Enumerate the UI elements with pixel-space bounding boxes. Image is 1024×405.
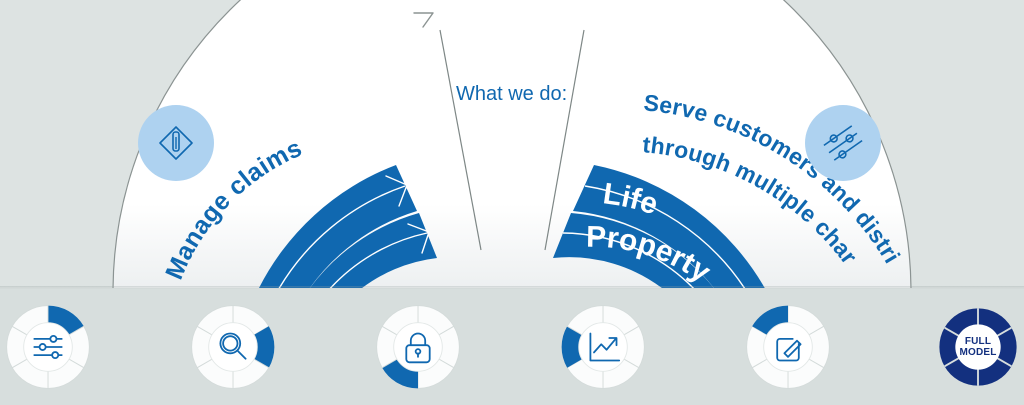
toolbar-item-sliders[interactable] [3,302,93,392]
infographic-canvas: Manage claims Serve customers and distri… [0,0,1024,405]
toolbar-item-edit[interactable] [743,302,833,392]
badge-serve-customers[interactable] [805,105,881,181]
donut-search [188,302,278,392]
maturity-toolbar: FULL MODEL [0,288,1024,405]
wheel-center-caption: What we do: [456,83,567,106]
donut-analytics [558,302,648,392]
pencil-in-diamond-icon [152,119,200,167]
donut-secure [373,302,463,392]
toolbar-item-analytics[interactable] [558,302,648,392]
toolbar-item-secure[interactable] [373,302,463,392]
badge-manage-claims[interactable] [138,105,214,181]
sliders-diagonal-icon [817,117,869,169]
sliders-icon [34,336,63,358]
donut-edit [743,302,833,392]
wheel-area: Manage claims Serve customers and distri… [0,0,1024,288]
toolbar-item-search[interactable] [188,302,278,392]
donut-sliders [3,302,93,392]
toolbar-item-full-model[interactable]: FULL MODEL [936,305,1020,389]
donut-full-model [936,305,1020,389]
